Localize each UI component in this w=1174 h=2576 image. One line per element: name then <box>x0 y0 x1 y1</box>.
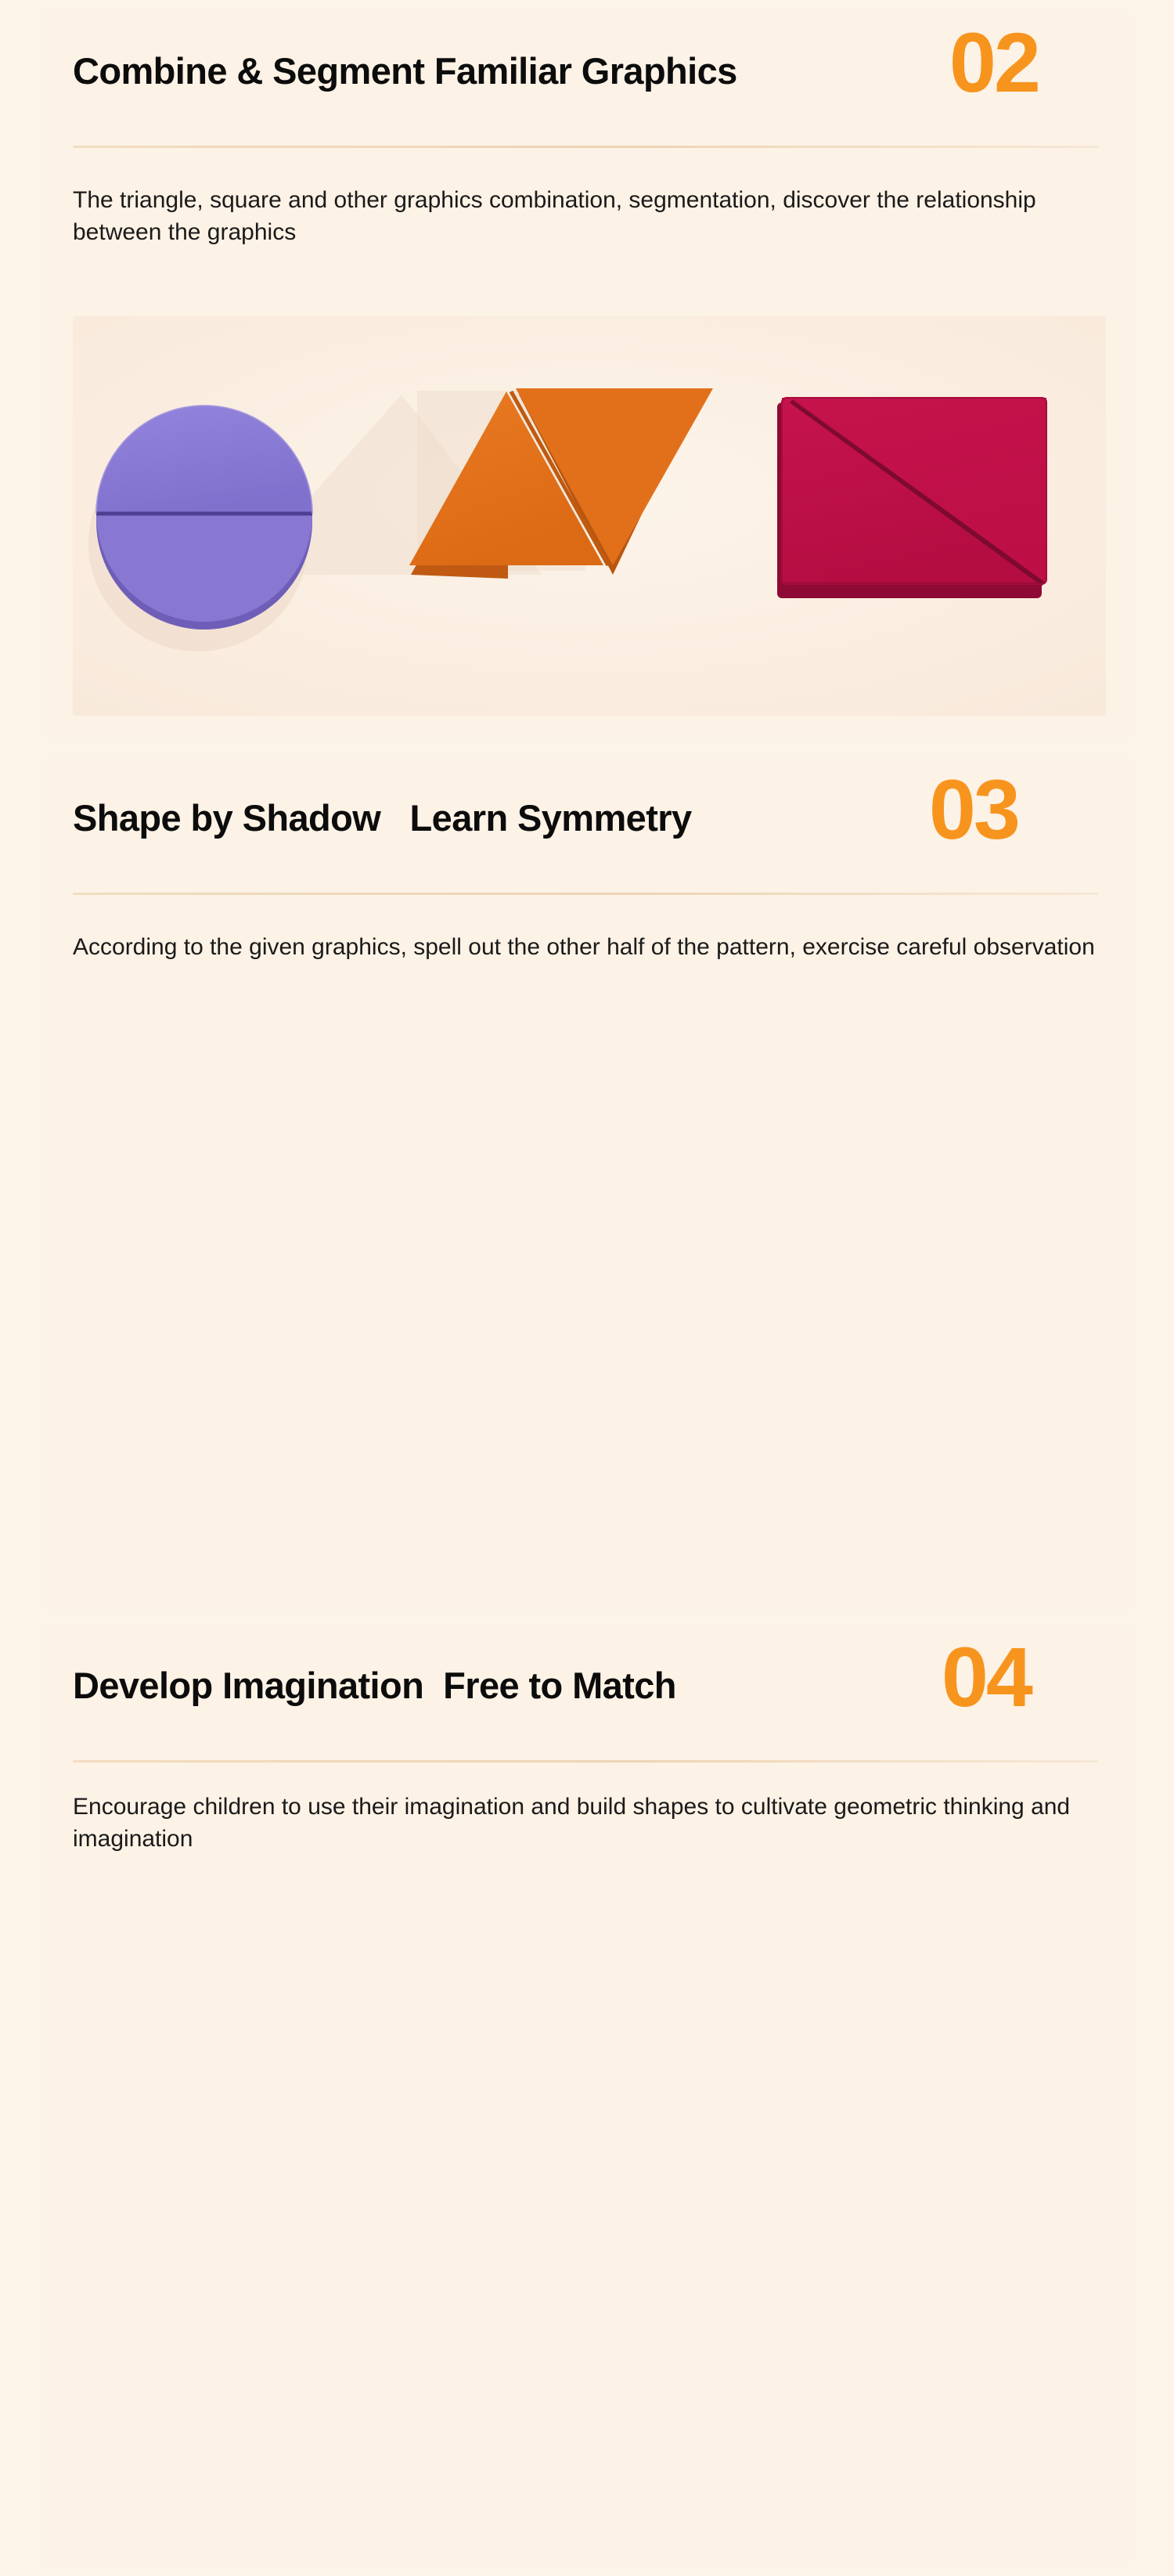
section-description-04: Encourage children to use their imaginat… <box>73 1791 1114 1856</box>
section-header-02: Combine & Segment Familiar Graphics 02 <box>71 11 1103 103</box>
section-card-02: Combine & Segment Familiar Graphics 02 T… <box>43 11 1131 739</box>
shapes-illustration-02 <box>73 316 1106 716</box>
header-divider-04 <box>73 1760 1098 1762</box>
photo-panel-combine-segment: Three wooden puzzle shapes: a purple cir… <box>73 316 1106 716</box>
header-divider-03 <box>73 893 1098 895</box>
section-number-03: 03 <box>929 767 1018 852</box>
section-header-04: Develop Imagination Free to Match 04 <box>71 1625 1103 1718</box>
infographic-page: Combine & Segment Familiar Graphics 02 T… <box>0 0 1174 2576</box>
section-title-04: Develop Imagination Free to Match <box>73 1664 676 1707</box>
section-card-04: Develop Imagination Free to Match 04 Enc… <box>43 1625 1131 2565</box>
section-title-03: Shape by Shadow Learn Symmetry <box>73 796 692 839</box>
section-number-04: 04 <box>942 1635 1031 1719</box>
section-header-03: Shape by Shadow Learn Symmetry 03 <box>71 758 1103 850</box>
section-description-02: The triangle, square and other graphics … <box>73 185 1114 249</box>
header-divider-02 <box>73 146 1098 148</box>
section-card-03: Shape by Shadow Learn Symmetry 03 Accord… <box>43 758 1131 1611</box>
section-description-03: According to the given graphics, spell o… <box>73 932 1114 964</box>
section-number-02: 02 <box>949 20 1039 105</box>
section-title-02: Combine & Segment Familiar Graphics <box>73 49 737 92</box>
